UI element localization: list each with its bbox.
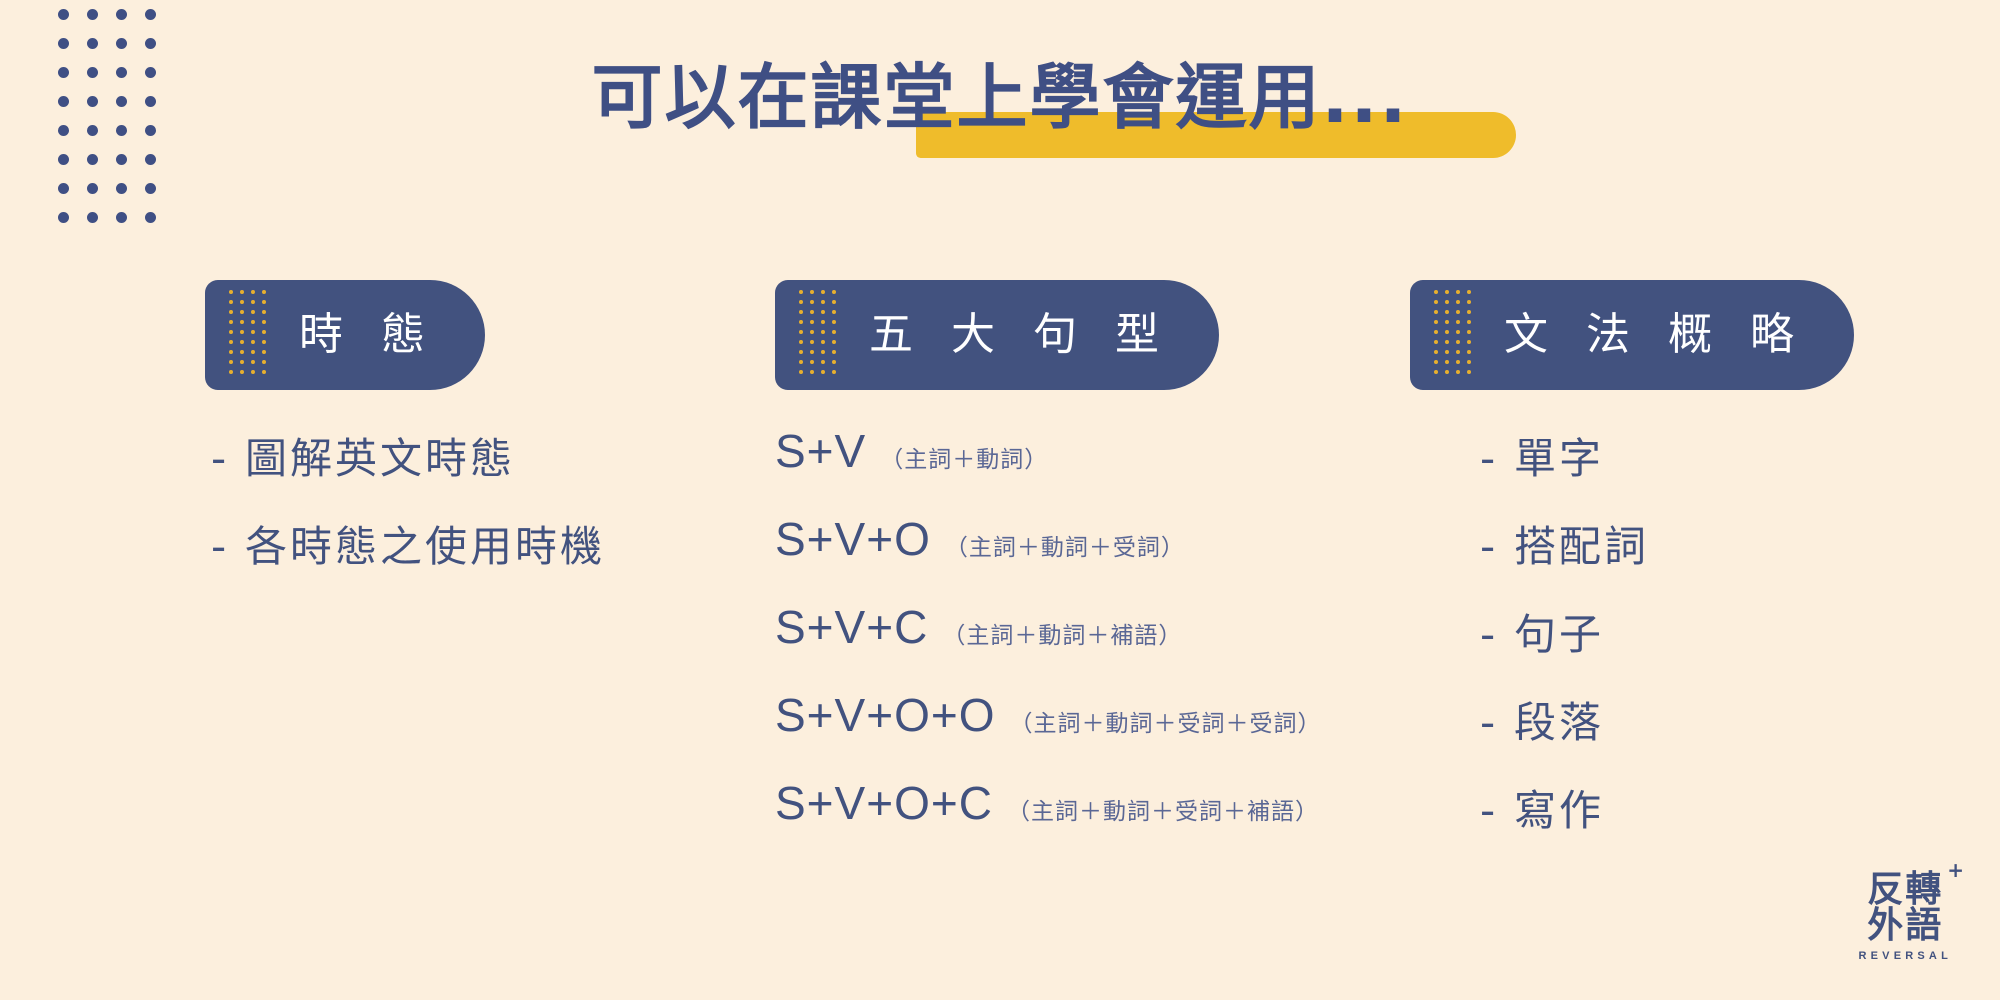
column-tense: 時 態 - 圖解英文時態 - 各時態之使用時機: [205, 280, 735, 614]
list-item-label: 段落: [1514, 702, 1604, 744]
list-item: S+V+C （主詞＋動詞＋補語）: [775, 604, 1395, 650]
list-item: - 各時態之使用時機: [211, 526, 735, 568]
list-item: S+V+O+O （主詞＋動詞＋受詞＋受詞）: [775, 692, 1395, 738]
pattern-gloss: （主詞＋動詞＋補語）: [942, 625, 1182, 648]
list-item: S+V+O （主詞＋動詞＋受詞）: [775, 516, 1395, 562]
logo-text-primary: 反轉: [1867, 869, 1943, 910]
pattern-formula: S+V+O: [775, 516, 931, 562]
list-item: - 句子: [1480, 614, 1930, 656]
section-header-tense[interactable]: 時 態: [205, 280, 485, 390]
list-item-label: 圖解英文時態: [245, 438, 515, 480]
logo-subtitle: REVERSAL: [1859, 950, 1953, 962]
pill-dot-grid-icon: [799, 290, 843, 380]
pattern-gloss: （主詞＋動詞＋受詞）: [945, 537, 1185, 560]
bullet-dash-icon: -: [211, 526, 245, 568]
list-grammar-overview: - 單字 - 搭配詞 - 句子 - 段落 - 寫作: [1480, 438, 1930, 832]
pattern-formula: S+V+O+O: [775, 692, 996, 738]
list-item: S+V （主詞＋動詞）: [775, 428, 1395, 474]
section-header-sentence-patterns[interactable]: 五 大 句 型: [775, 280, 1219, 390]
list-item: - 搭配詞: [1480, 526, 1930, 568]
list-item: - 圖解英文時態: [211, 438, 735, 480]
list-item-label: 單字: [1514, 438, 1604, 480]
list-item: - 段落: [1480, 702, 1930, 744]
page-title: 可以在課堂上學會運用...: [592, 62, 1409, 133]
pill-dot-grid-icon: [229, 290, 273, 380]
bullet-dash-icon: -: [211, 438, 245, 480]
pattern-gloss: （主詞＋動詞）: [880, 449, 1048, 472]
section-header-label: 時 態: [299, 313, 441, 357]
pill-dot-grid-icon: [1434, 290, 1478, 380]
pattern-formula: S+V+C: [775, 604, 928, 650]
column-grammar-overview: 文 法 概 略 - 單字 - 搭配詞 - 句子 - 段落: [1410, 280, 1930, 878]
list-sentence-patterns: S+V （主詞＋動詞） S+V+O （主詞＋動詞＋受詞） S+V+C （主詞＋動…: [775, 428, 1395, 826]
list-item: - 單字: [1480, 438, 1930, 480]
list-item-label: 各時態之使用時機: [245, 526, 605, 568]
section-header-label: 五 大 句 型: [869, 313, 1175, 357]
bullet-dash-icon: -: [1480, 438, 1514, 480]
section-header-grammar-overview[interactable]: 文 法 概 略: [1410, 280, 1854, 390]
list-tense: - 圖解英文時態 - 各時態之使用時機: [211, 438, 735, 568]
list-item: - 寫作: [1480, 790, 1930, 832]
bullet-dash-icon: -: [1480, 702, 1514, 744]
logo-plus-icon: +: [1947, 860, 1966, 880]
list-item-label: 句子: [1514, 614, 1604, 656]
logo-line-1: 反轉+: [1859, 872, 1953, 909]
slide-title-container: 可以在課堂上學會運用...: [0, 62, 2000, 133]
content-columns: 時 態 - 圖解英文時態 - 各時態之使用時機 五 大 句 型: [0, 280, 2000, 980]
brand-logo: 反轉+ 外語 REVERSAL: [1859, 872, 1953, 962]
section-header-label: 文 法 概 略: [1504, 313, 1810, 357]
list-item: S+V+O+C （主詞＋動詞＋受詞＋補語）: [775, 780, 1395, 826]
pattern-formula: S+V+O+C: [775, 780, 993, 826]
bullet-dash-icon: -: [1480, 614, 1514, 656]
bullet-dash-icon: -: [1480, 790, 1514, 832]
list-item-label: 寫作: [1514, 790, 1604, 832]
list-item-label: 搭配詞: [1514, 526, 1649, 568]
pattern-gloss: （主詞＋動詞＋受詞＋受詞）: [1010, 713, 1322, 736]
pattern-formula: S+V: [775, 428, 866, 474]
logo-line-2: 外語: [1859, 908, 1953, 945]
pattern-gloss: （主詞＋動詞＋受詞＋補語）: [1007, 801, 1319, 824]
column-sentence-patterns: 五 大 句 型 S+V （主詞＋動詞） S+V+O （主詞＋動詞＋受詞） S+V…: [775, 280, 1395, 868]
slide-canvas: 可以在課堂上學會運用... 時 態 - 圖解英文時態 - 各時態之使用時機: [0, 0, 2000, 1000]
bullet-dash-icon: -: [1480, 526, 1514, 568]
